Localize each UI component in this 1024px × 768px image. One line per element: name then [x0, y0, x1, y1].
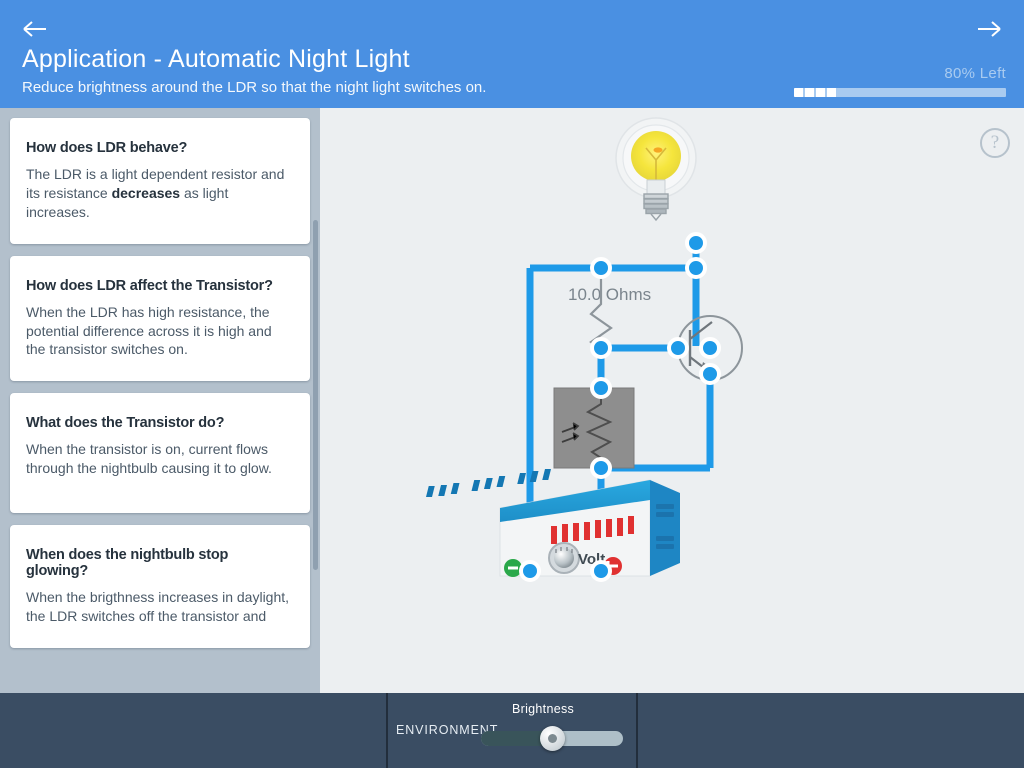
- application-root: Application - Automatic Night Light Redu…: [0, 0, 1024, 768]
- panel-divider-left: [386, 693, 388, 768]
- circuit-canvas[interactable]: ?: [320, 108, 1024, 693]
- card-body: When the LDR has high resistance, the po…: [26, 303, 294, 360]
- info-sidebar[interactable]: How does LDR behave? The LDR is a light …: [0, 108, 320, 693]
- circuit-diagram[interactable]: 10.0 Ohms: [320, 108, 1024, 693]
- list-item[interactable]: When does the nightbulb stop glowing? Wh…: [10, 525, 310, 648]
- resistor-label: 10.0 Ohms: [568, 285, 651, 304]
- card-text-emphasis: decreases: [112, 185, 181, 201]
- progress-label: 80% Left: [944, 65, 1006, 82]
- card-body: The LDR is a light dependent resistor an…: [26, 165, 294, 222]
- list-item[interactable]: How does LDR behave? The LDR is a light …: [10, 118, 310, 244]
- power-supply-component[interactable]: Volt: [426, 469, 680, 577]
- card-title: What does the Transistor do?: [26, 415, 294, 431]
- card-body: When the brigthness increases in dayligh…: [26, 588, 294, 626]
- page-title: Application - Automatic Night Light: [22, 45, 410, 74]
- card-title: How does LDR affect the Transistor?: [26, 278, 294, 294]
- arrow-left-icon[interactable]: [18, 14, 52, 44]
- progress-bar: [794, 88, 1006, 97]
- brightness-slider[interactable]: [481, 731, 623, 746]
- sidebar-card-list: How does LDR behave? The LDR is a light …: [10, 118, 310, 648]
- progress-ticks: [794, 88, 836, 97]
- card-title: How does LDR behave?: [26, 140, 294, 156]
- sidebar-scrollbar[interactable]: [313, 220, 318, 570]
- page-subtitle: Reduce brightness around the LDR so that…: [22, 79, 486, 96]
- brightness-label: Brightness: [512, 702, 574, 716]
- light-bulb-component[interactable]: [616, 118, 696, 220]
- arrow-right-icon[interactable]: [972, 14, 1006, 44]
- slider-knob[interactable]: [540, 726, 565, 751]
- card-body: When the transistor is on, current flows…: [26, 440, 294, 478]
- list-item[interactable]: How does LDR affect the Transistor? When…: [10, 256, 310, 382]
- app-header: Application - Automatic Night Light Redu…: [0, 0, 1024, 108]
- card-title: When does the nightbulb stop glowing?: [26, 547, 294, 579]
- list-item[interactable]: What does the Transistor do? When the tr…: [10, 393, 310, 513]
- ldr-component[interactable]: [554, 388, 634, 468]
- panel-divider-right: [636, 693, 638, 768]
